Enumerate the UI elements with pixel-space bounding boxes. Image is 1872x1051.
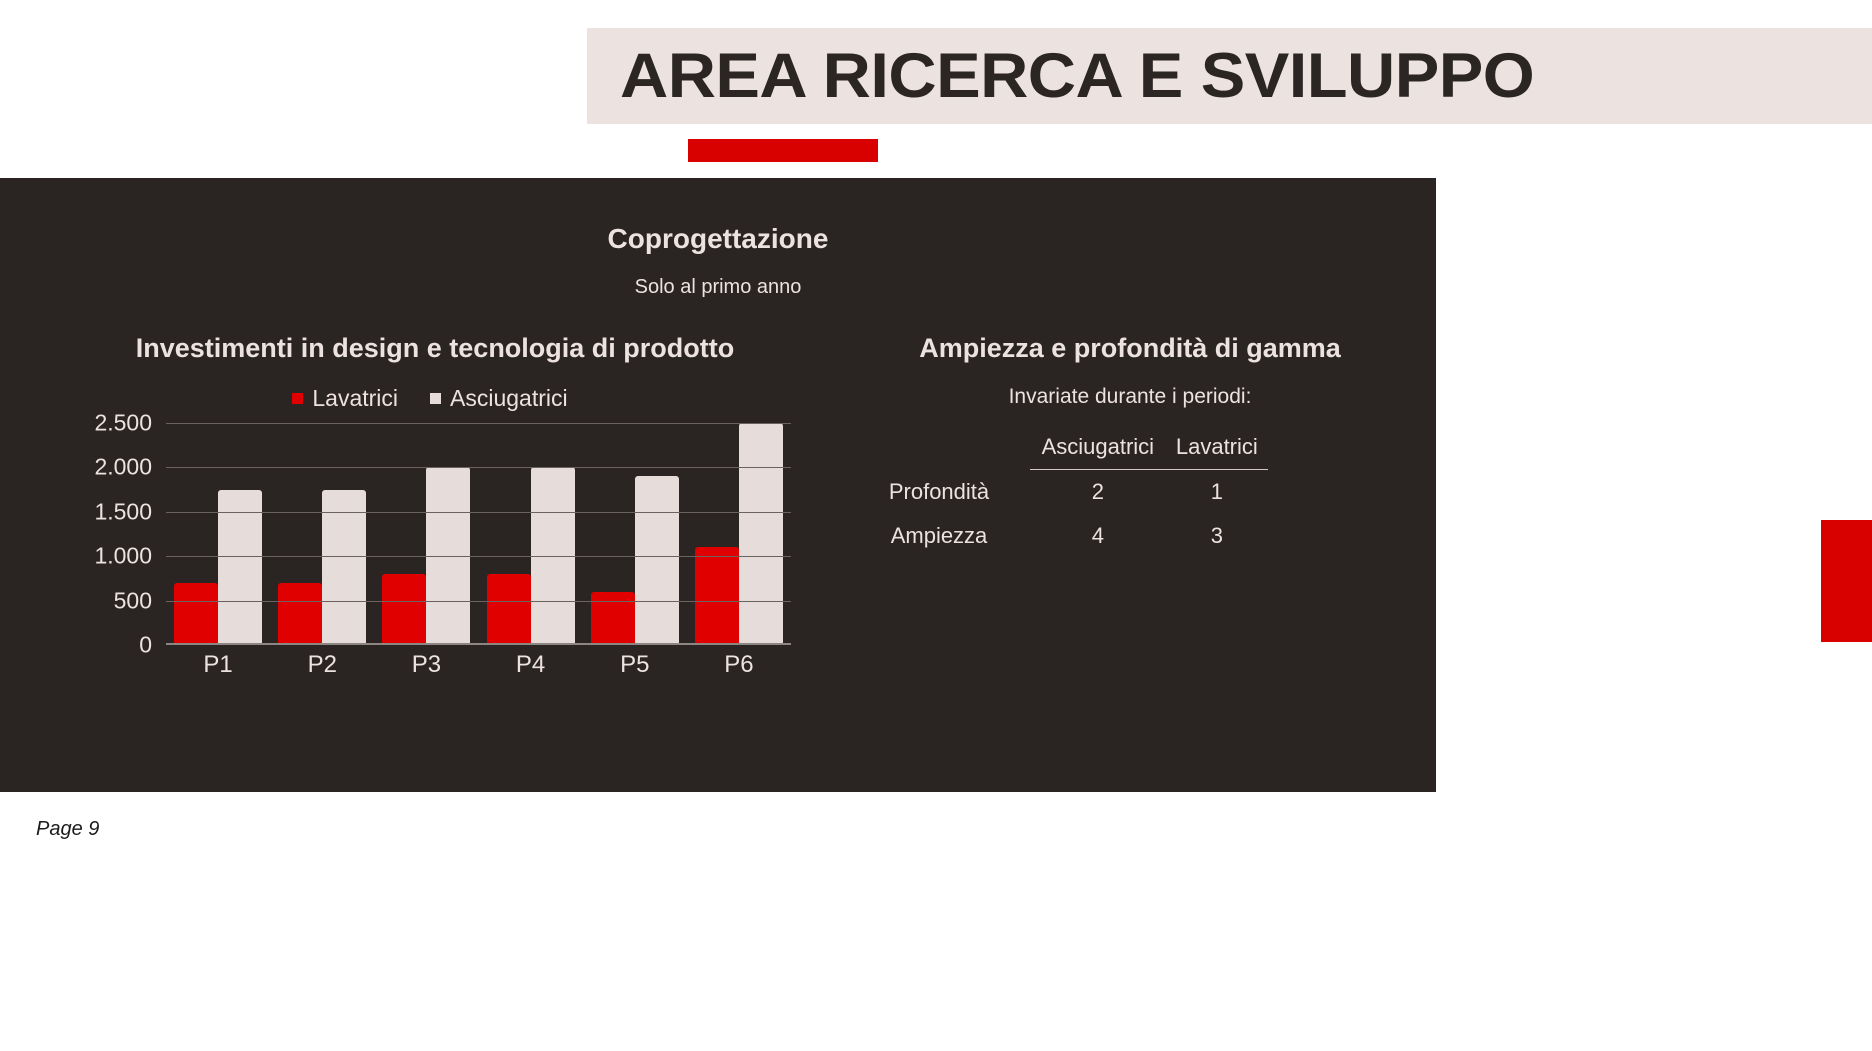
chart-column: Investimenti in design e tecnologia di p… (20, 333, 840, 773)
gridline (166, 512, 791, 513)
x-axis-labels: P1P2P3P4P5P6 (166, 651, 791, 679)
bar-group (583, 423, 687, 645)
bar (635, 476, 679, 645)
table-cell: 2 (1030, 470, 1166, 515)
y-axis-tick-label: 2.000 (94, 454, 152, 481)
table-row: Profondità 2 1 (848, 470, 1268, 515)
page-title: AREA RICERCA E SVILUPPO (620, 36, 1872, 116)
legend-swatch-icon (430, 393, 441, 404)
table-row-header-ampiezza: Ampiezza (848, 514, 1030, 558)
gridline (166, 467, 791, 468)
legend-label: Lavatrici (312, 385, 398, 412)
y-axis-tick-label: 500 (114, 587, 152, 614)
bar (278, 583, 322, 645)
table-cell: 1 (1166, 470, 1268, 515)
bar (218, 490, 262, 645)
table-row: Ampiezza 4 3 (848, 514, 1268, 558)
x-axis-tick-label: P6 (687, 651, 791, 679)
bar (174, 583, 218, 645)
section-subtitle: Solo al primo anno (0, 276, 1436, 299)
bar (322, 490, 366, 645)
table-note: Invariate durante i periodi: (840, 385, 1420, 409)
gamma-table: Asciugatrici Lavatrici Profondità 2 1 Am… (848, 425, 1268, 558)
chart-plot: 05001.0001.5002.0002.500 P1P2P3P4P5P6 (20, 423, 840, 673)
chart-legend: Lavatrici Asciugatrici (20, 385, 840, 412)
y-axis-tick-label: 1.500 (94, 498, 152, 525)
bar-group (374, 423, 478, 645)
x-axis-tick-label: P3 (374, 651, 478, 679)
bar-group (687, 423, 791, 645)
y-axis-tick-label: 2.500 (94, 410, 152, 437)
table-row-header-profondita: Profondità (848, 470, 1030, 515)
table-column-header-asciugatrici: Asciugatrici (1030, 425, 1166, 470)
content-panel: Coprogettazione Solo al primo anno Inves… (0, 178, 1436, 792)
x-axis-tick-label: P5 (583, 651, 687, 679)
y-axis-tick-label: 0 (139, 632, 152, 659)
y-axis-tick-label: 1.000 (94, 543, 152, 570)
table-cell: 3 (1166, 514, 1268, 558)
table-header-row: Asciugatrici Lavatrici (848, 425, 1268, 470)
x-axis-line (166, 643, 791, 645)
bar-group (270, 423, 374, 645)
table-cell: 4 (1030, 514, 1166, 558)
legend-item-lavatrici: Lavatrici (292, 385, 398, 412)
table-corner-cell (848, 425, 1030, 470)
legend-label: Asciugatrici (450, 385, 568, 412)
legend-swatch-icon (292, 393, 303, 404)
table-column-header-lavatrici: Lavatrici (1166, 425, 1268, 470)
bar (487, 574, 531, 645)
table-column: Ampiezza e profondità di gamma Invariate… (840, 333, 1420, 773)
table-body: Profondità 2 1 Ampiezza 4 3 (848, 470, 1268, 559)
right-edge-accent-bar (1821, 520, 1872, 642)
header-accent-bar (688, 139, 878, 162)
legend-item-asciugatrici: Asciugatrici (430, 385, 568, 412)
bar-groups (166, 423, 791, 645)
page-number-label: Page 9 (36, 818, 99, 841)
gridline (166, 556, 791, 557)
bar-group (479, 423, 583, 645)
bar (382, 574, 426, 645)
y-axis: 05001.0001.5002.0002.500 (20, 423, 160, 645)
chart-heading: Investimenti in design e tecnologia di p… (40, 333, 830, 364)
bar (739, 423, 783, 645)
bar-group (166, 423, 270, 645)
plot-area (166, 423, 791, 645)
section-title: Coprogettazione (0, 223, 1436, 255)
gridline (166, 423, 791, 424)
x-axis-tick-label: P4 (479, 651, 583, 679)
gridline (166, 601, 791, 602)
bar (695, 547, 739, 645)
table-heading: Ampiezza e profondità di gamma (840, 333, 1420, 364)
x-axis-tick-label: P1 (166, 651, 270, 679)
x-axis-tick-label: P2 (270, 651, 374, 679)
